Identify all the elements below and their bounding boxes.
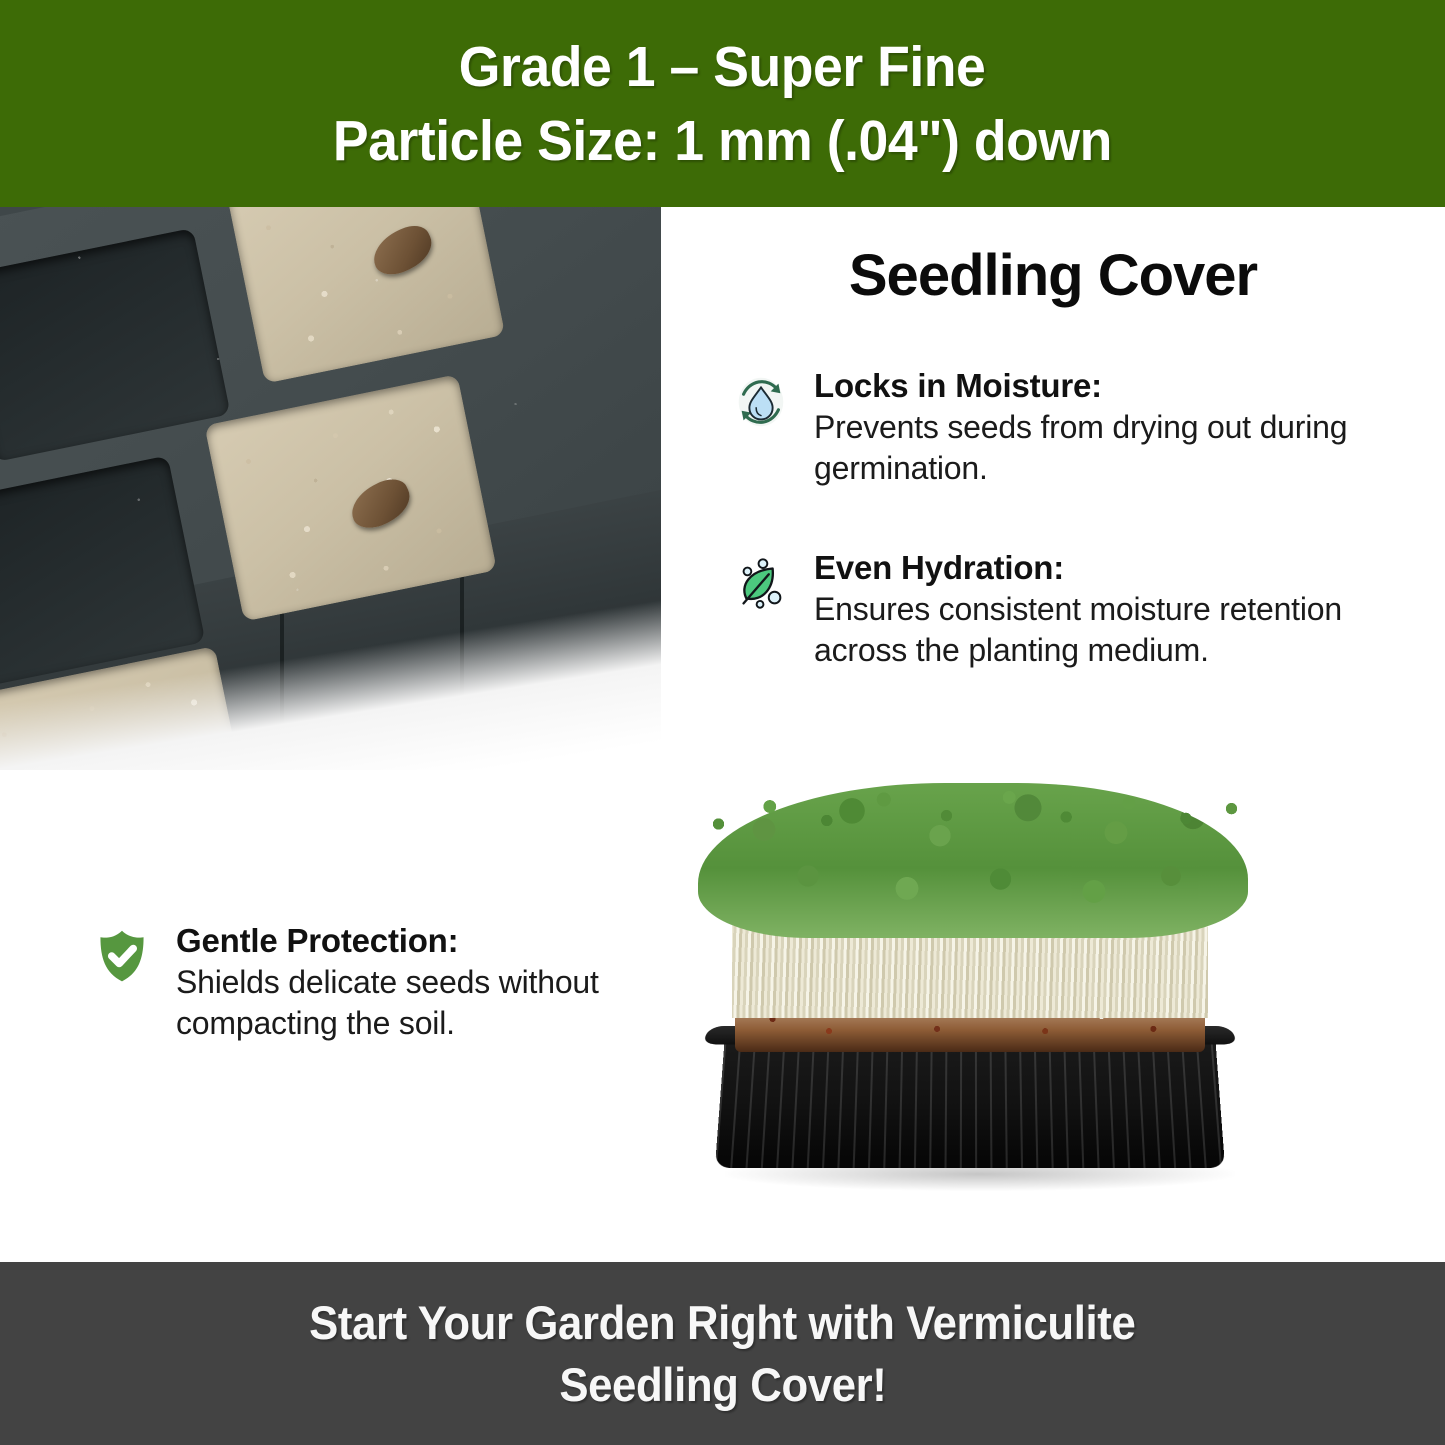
section-heading-seedling-cover: Seedling Cover (661, 242, 1445, 309)
feature-text: Even Hydration: Ensures consistent moist… (814, 547, 1420, 671)
feature-gentle-protection: Gentle Protection: Shields delicate seed… (92, 920, 612, 1044)
bottom-banner-line-1: Start Your Garden Right with Vermiculite (309, 1292, 1135, 1354)
seed (366, 219, 439, 282)
tray-cell-filled (226, 207, 505, 384)
feature-locks-in-moisture: Locks in Moisture: Prevents seeds from d… (730, 365, 1420, 489)
leaf-hydration-icon (730, 553, 792, 615)
water-recycle-icon (730, 371, 792, 433)
feature-text: Gentle Protection: Shields delicate seed… (176, 920, 612, 1044)
microgreens-canopy-tips (690, 775, 1260, 845)
top-banner-line-1: Grade 1 – Super Fine (459, 30, 986, 104)
seed-tray-photo (0, 207, 661, 770)
feature-title: Locks in Moisture: (814, 365, 1420, 407)
feature-description: Shields delicate seeds without compactin… (176, 962, 612, 1044)
feature-title: Even Hydration: (814, 547, 1420, 589)
microgreens-photo (640, 775, 1340, 1225)
microgreens-black-tray (715, 1036, 1225, 1168)
bottom-banner-line-2: Seedling Cover! (559, 1354, 886, 1416)
seed (344, 473, 417, 536)
tray-cell-empty (0, 228, 231, 462)
feature-text: Locks in Moisture: Prevents seeds from d… (814, 365, 1420, 489)
right-content-column: Seedling Cover Locks in Moisture: Preven… (661, 207, 1445, 770)
top-banner-line-2: Particle Size: 1 mm (.04") down (333, 104, 1112, 178)
feature-even-hydration: Even Hydration: Ensures consistent moist… (730, 547, 1420, 671)
feature-title: Gentle Protection: (176, 920, 612, 962)
bottom-banner: Start Your Garden Right with Vermiculite… (0, 1262, 1445, 1445)
shield-check-icon (92, 926, 154, 988)
feature-description: Prevents seeds from drying out during ge… (814, 407, 1420, 489)
top-banner: Grade 1 – Super Fine Particle Size: 1 mm… (0, 0, 1445, 207)
feature-description: Ensures consistent moisture retention ac… (814, 589, 1420, 671)
microgreens-tray-ribs (715, 1036, 1225, 1168)
